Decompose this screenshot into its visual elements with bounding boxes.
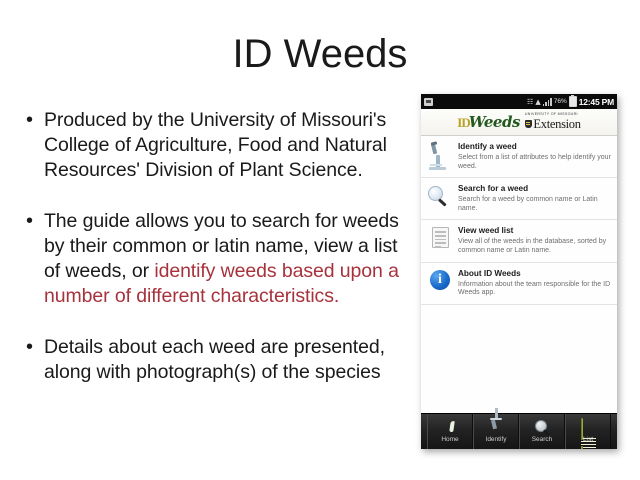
info-circle-icon: i xyxy=(427,269,453,298)
menu-item-title: View weed list xyxy=(458,226,612,236)
page-title: ID Weeds xyxy=(0,32,640,76)
menu-item-about-id-weeds[interactable]: i About ID Weeds Information about the t… xyxy=(421,263,617,305)
sd-card-icon xyxy=(424,98,433,106)
menu-item-subtitle: Information about the team responsible f… xyxy=(458,281,612,298)
bullet-list: • Produced by the University of Missouri… xyxy=(22,108,414,411)
wifi-icon: ▲ xyxy=(535,98,540,106)
bullet-text: Details about each weed are presented, a… xyxy=(44,335,414,385)
menu-item-view-weed-list[interactable]: View weed list View all of the weeds in … xyxy=(421,220,617,262)
status-clock: 12:45 PM xyxy=(579,97,614,107)
signal-bars-icon xyxy=(543,98,552,106)
list-icon xyxy=(581,420,596,435)
bullet-text: The guide allows you to search for weeds… xyxy=(44,209,414,309)
bottom-nav-bar: Home Identify Search List xyxy=(421,413,617,449)
battery-icon xyxy=(569,96,577,107)
list-item: • Produced by the University of Missouri… xyxy=(22,108,414,183)
bullet-marker: • xyxy=(22,335,44,360)
bullet-marker: • xyxy=(22,209,44,234)
nav-tab-label: Identify xyxy=(486,436,507,443)
menu-item-title: Search for a weed xyxy=(458,184,612,194)
nav-tab-home[interactable]: Home xyxy=(427,414,473,449)
document-list-icon xyxy=(427,226,453,255)
nav-tab-label: Search xyxy=(532,436,553,443)
home-globe-icon xyxy=(443,420,458,435)
phone-status-bar: ☷ ▲ 76% 12:45 PM xyxy=(421,94,617,109)
magnifier-icon xyxy=(427,184,453,213)
bullet-text-plain: Details about each weed are presented, a… xyxy=(44,336,385,383)
battery-percent-label: 76% xyxy=(554,98,567,106)
app-header: ID Weeds UNIVERSITY OF MISSOURI Extensio… xyxy=(421,109,617,136)
logo-weeds-text: Weeds xyxy=(469,113,520,131)
menu-item-subtitle: Search for a weed by common name or Lati… xyxy=(458,196,612,213)
idweeds-logo: ID Weeds xyxy=(457,113,520,131)
nav-tab-identify[interactable]: Identify xyxy=(473,414,519,449)
menu-item-search-for-a-weed[interactable]: Search for a weed Search for a weed by c… xyxy=(421,178,617,220)
list-item: • Details about each weed are presented,… xyxy=(22,335,414,385)
list-item: • The guide allows you to search for wee… xyxy=(22,209,414,309)
magnifier-icon xyxy=(535,420,550,435)
extension-label: Extension xyxy=(533,118,580,131)
bullet-marker: • xyxy=(22,108,44,133)
mizzou-shield-icon xyxy=(525,120,532,128)
app-menu-list: Identify a weed Select from a list of at… xyxy=(421,136,617,413)
vibrate-icon: ☷ xyxy=(527,98,533,106)
mu-extension-logo: UNIVERSITY OF MISSOURI Extension xyxy=(525,113,581,130)
phone-screenshot: ☷ ▲ 76% 12:45 PM ID Weeds UNIVERSITY OF … xyxy=(421,94,617,449)
nav-tab-list[interactable]: List xyxy=(565,414,611,449)
menu-item-subtitle: View all of the weeds in the database, s… xyxy=(458,238,612,255)
microscope-icon xyxy=(427,142,453,171)
bullet-text: Produced by the University of Missouri's… xyxy=(44,108,414,183)
bullet-text-plain: Produced by the University of Missouri's… xyxy=(44,109,387,181)
menu-item-identify-a-weed[interactable]: Identify a weed Select from a list of at… xyxy=(421,136,617,178)
menu-item-subtitle: Select from a list of attributes to help… xyxy=(458,154,612,171)
menu-item-title: About ID Weeds xyxy=(458,269,612,279)
microscope-icon xyxy=(489,420,504,435)
menu-item-title: Identify a weed xyxy=(458,142,612,152)
nav-tab-search[interactable]: Search xyxy=(519,414,565,449)
nav-tab-label: Home xyxy=(441,436,458,443)
